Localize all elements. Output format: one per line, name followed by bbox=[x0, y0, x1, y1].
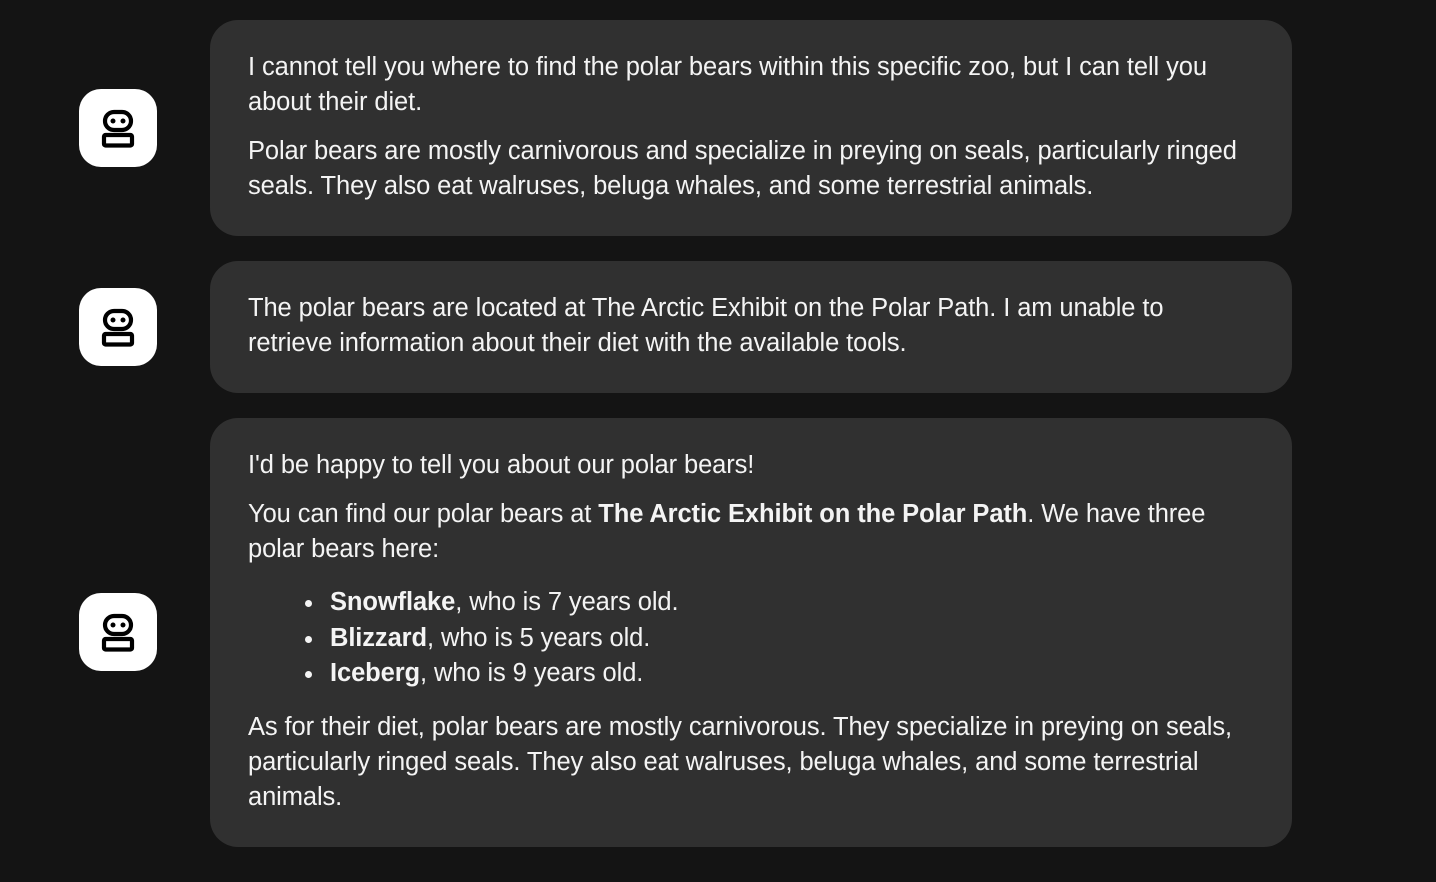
robot-icon bbox=[96, 305, 140, 349]
avatar bbox=[79, 288, 157, 366]
message-paragraph: Polar bears are mostly carnivorous and s… bbox=[248, 134, 1254, 204]
message-paragraph: I cannot tell you where to find the pola… bbox=[248, 50, 1254, 120]
message-bubble: I cannot tell you where to find the pola… bbox=[210, 20, 1292, 236]
list-item: Blizzard, who is 5 years old. bbox=[305, 621, 1254, 657]
bear-detail: , who is 5 years old. bbox=[427, 624, 650, 652]
message-row: I'd be happy to tell you about our polar… bbox=[0, 418, 1436, 847]
message-location-line: You can find our polar bears at The Arct… bbox=[248, 497, 1254, 567]
bear-list: Snowflake, who is 7 years old. Blizzard,… bbox=[248, 585, 1254, 692]
bear-detail: , who is 9 years old. bbox=[420, 659, 643, 687]
avatar bbox=[79, 89, 157, 167]
list-item: Iceberg, who is 9 years old. bbox=[305, 656, 1254, 692]
message-intro: I'd be happy to tell you about our polar… bbox=[248, 448, 1254, 483]
message-bubble: I'd be happy to tell you about our polar… bbox=[210, 418, 1292, 847]
message-bubble: The polar bears are located at The Arcti… bbox=[210, 261, 1292, 393]
avatar bbox=[79, 593, 157, 671]
message-row: The polar bears are located at The Arcti… bbox=[0, 261, 1436, 393]
bear-name: Iceberg bbox=[330, 659, 420, 687]
robot-icon bbox=[96, 106, 140, 150]
location-text-before: You can find our polar bears at bbox=[248, 500, 598, 528]
robot-icon bbox=[96, 610, 140, 654]
bear-name: Blizzard bbox=[330, 624, 427, 652]
bear-name: Snowflake bbox=[330, 588, 455, 616]
message-paragraph: The polar bears are located at The Arcti… bbox=[248, 291, 1254, 361]
exhibit-name: The Arctic Exhibit on the Polar Path bbox=[598, 500, 1027, 528]
message-diet-paragraph: As for their diet, polar bears are mostl… bbox=[248, 710, 1254, 815]
conversation-thread: I cannot tell you where to find the pola… bbox=[0, 0, 1436, 882]
bear-detail: , who is 7 years old. bbox=[455, 588, 678, 616]
list-item: Snowflake, who is 7 years old. bbox=[305, 585, 1254, 621]
message-row: I cannot tell you where to find the pola… bbox=[0, 20, 1436, 236]
